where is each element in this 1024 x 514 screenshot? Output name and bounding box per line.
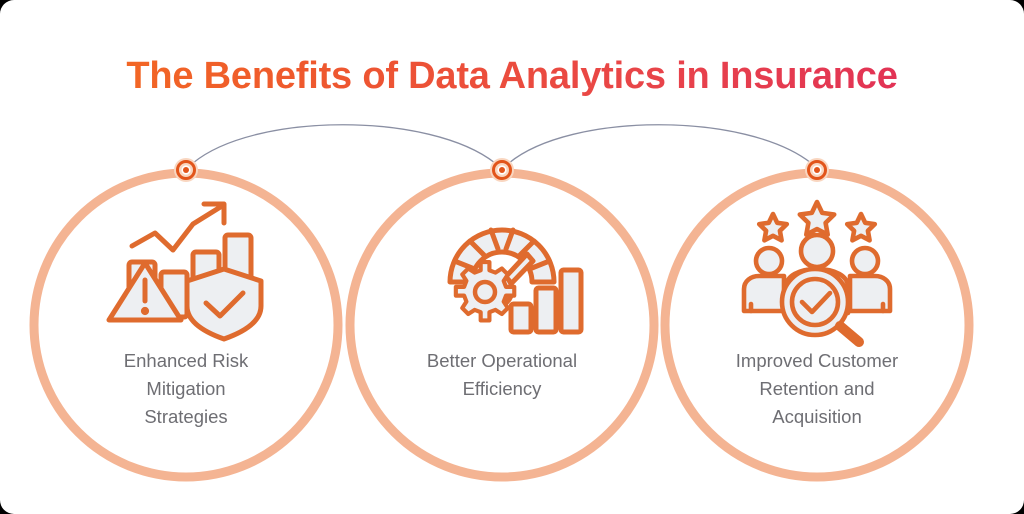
operational-efficiency-icon bbox=[450, 230, 581, 332]
node-marker-3[interactable] bbox=[805, 158, 829, 182]
connector-arc-1-2 bbox=[193, 125, 495, 163]
benefit-label-2: Better Operational Efficiency bbox=[382, 347, 622, 403]
star-right bbox=[847, 214, 875, 240]
star-center bbox=[800, 202, 834, 235]
node-marker-1[interactable] bbox=[174, 158, 198, 182]
connector-arcs bbox=[193, 125, 811, 163]
node-markers bbox=[174, 158, 829, 182]
customer-retention-icon bbox=[744, 202, 890, 342]
benefit-label-3: Improved Customer Retention and Acquisit… bbox=[697, 347, 937, 431]
star-left bbox=[759, 214, 787, 240]
trend-up-arrow bbox=[132, 204, 224, 250]
infographic-page: The Benefits of Data Analytics in Insura… bbox=[0, 0, 1024, 514]
benefit-ring-1[interactable] bbox=[34, 173, 338, 477]
person-left bbox=[744, 248, 784, 311]
benefit-label-1: Enhanced Risk Mitigation Strategies bbox=[66, 347, 306, 431]
risk-analytics-icon bbox=[109, 204, 261, 339]
shield-check bbox=[187, 269, 261, 339]
node-marker-2[interactable] bbox=[490, 158, 514, 182]
connector-arc-2-3 bbox=[509, 125, 811, 163]
benefit-ring-2[interactable] bbox=[350, 173, 654, 477]
person-right bbox=[850, 248, 890, 311]
gear bbox=[456, 262, 514, 320]
diagram-canvas bbox=[0, 0, 1024, 514]
